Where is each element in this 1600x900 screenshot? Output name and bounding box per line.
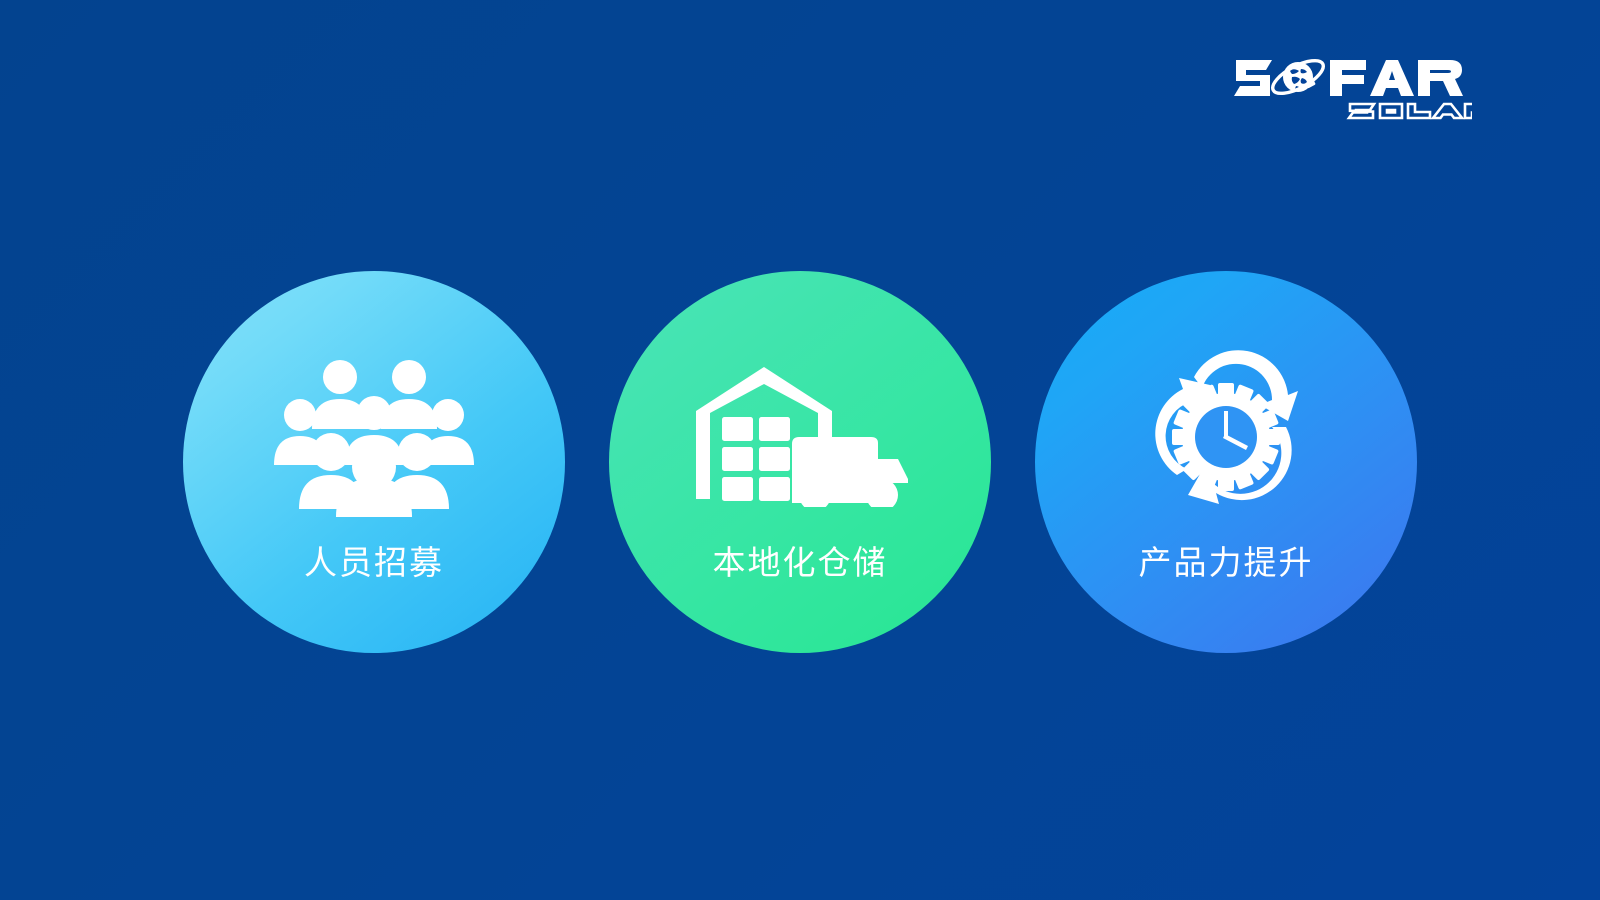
feature-label-product-capability: 产品力提升 <box>1035 543 1417 583</box>
people-group-icon <box>183 357 565 517</box>
brand-logo <box>1232 48 1472 120</box>
feature-circle-personnel-recruitment[interactable]: 人员招募 <box>183 271 565 653</box>
warehouse-truck-icon <box>609 357 991 517</box>
globe-orbit-icon <box>1268 54 1328 100</box>
slide-canvas: 人员招募 <box>0 0 1600 900</box>
feature-circle-localized-warehousing[interactable]: 本地化仓储 <box>609 271 991 653</box>
feature-label-localized-warehousing: 本地化仓储 <box>609 543 991 583</box>
feature-circle-product-capability[interactable]: 产品力提升 <box>1035 271 1417 653</box>
feature-label-personnel-recruitment: 人员招募 <box>183 543 565 583</box>
gear-clock-cycle-icon <box>1035 357 1417 517</box>
feature-circle-row: 人员招募 <box>0 262 1600 662</box>
